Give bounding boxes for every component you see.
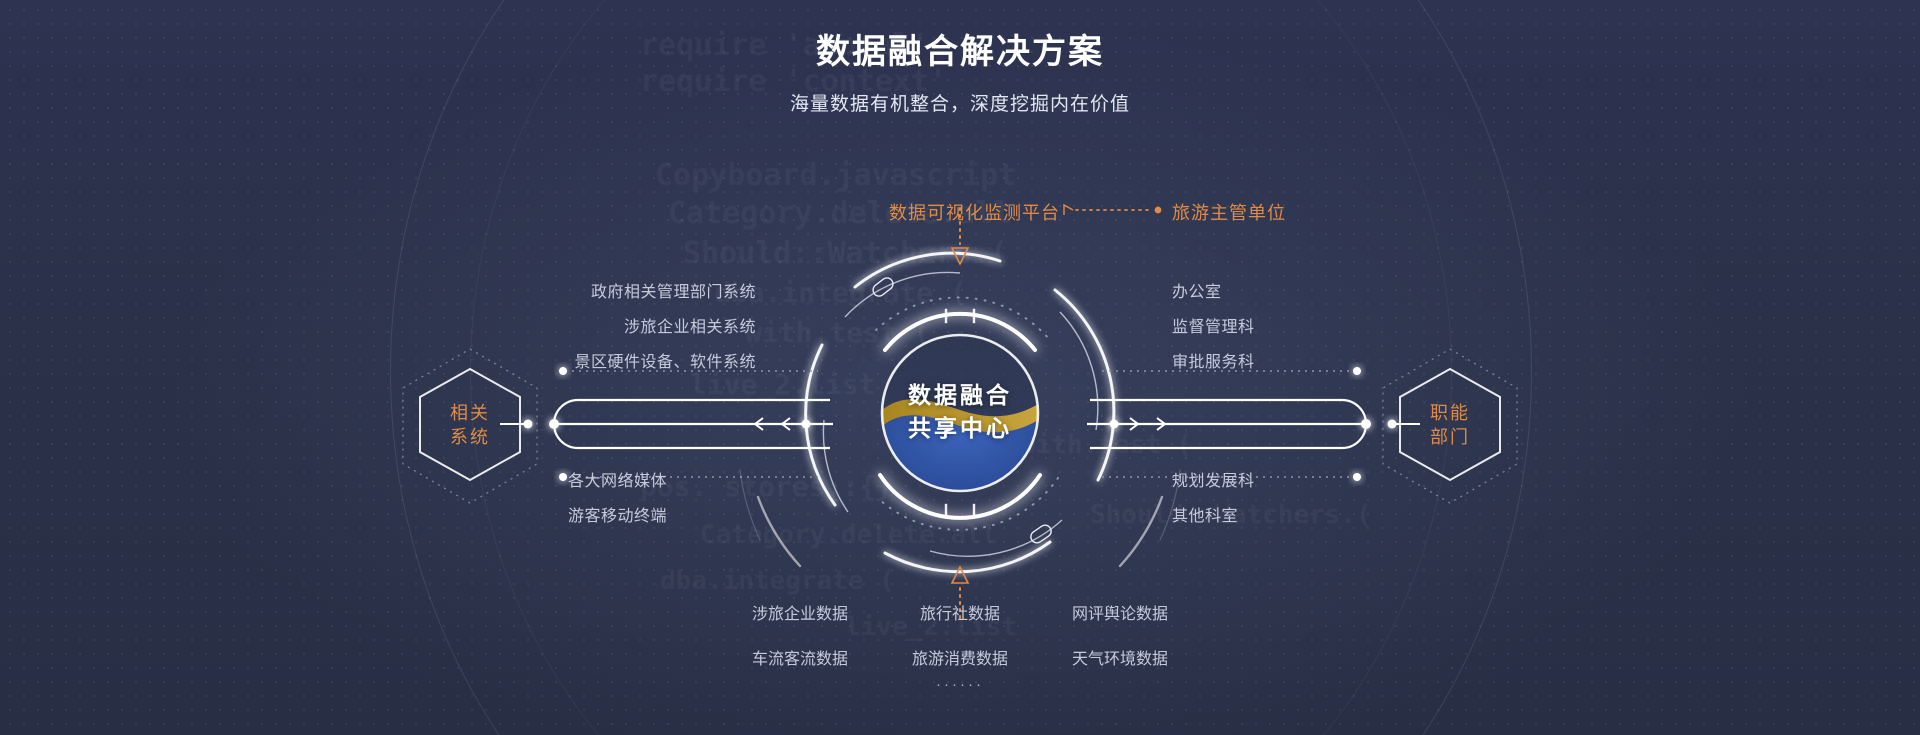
right-badge-line1: 职能 <box>1430 401 1470 425</box>
page-subtitle: 海量数据有机整合，深度挖掘内在价值 <box>0 89 1920 116</box>
left-lower-item-1: 游客移动终端 <box>568 502 667 526</box>
right-lower-item-0: 规划发展科 <box>1172 467 1255 491</box>
bottom-item-3: 车流客流数据 <box>720 645 880 669</box>
bg-code-line: Copyboard.javascript <box>655 158 1016 193</box>
bottom-row-2: 车流客流数据 旅游消费数据 天气环境数据 <box>720 645 1200 669</box>
connector-top-horizontal <box>1064 205 1161 215</box>
bottom-item-2: 网评舆论数据 <box>1040 600 1200 624</box>
left-badge-line1: 相关 <box>450 401 490 425</box>
right-badge[interactable]: 职能 部门 <box>1390 360 1510 490</box>
bottom-item-4: 旅游消费数据 <box>880 645 1040 669</box>
bottom-row-1: 涉旅企业数据 旅行社数据 网评舆论数据 <box>720 600 1200 624</box>
core-label-line2: 共享中心 <box>830 412 1090 445</box>
right-branch-lines <box>1087 367 1420 481</box>
bg-code-line: with.test ( <box>745 316 930 349</box>
right-upper-item-0: 办公室 <box>1172 278 1222 302</box>
decorative-swoosh-arcs <box>740 470 1180 566</box>
page-title: 数据融合解决方案 <box>0 32 1920 73</box>
left-badge-line2: 系统 <box>450 425 490 449</box>
core-label-line1: 数据融合 <box>830 379 1090 412</box>
right-upper-item-1: 监督管理科 <box>1172 313 1255 337</box>
bottom-item-1: 旅行社数据 <box>880 600 1040 624</box>
left-branch-lines <box>500 367 833 481</box>
left-lower-item-0: 各大网络媒体 <box>568 467 667 491</box>
left-upper-item-1: 涉旅企业相关系统 <box>300 313 756 337</box>
bottom-more-indicator: ······ <box>720 676 1200 693</box>
bottom-item-0: 涉旅企业数据 <box>720 600 880 624</box>
right-lower-item-1: 其他科室 <box>1172 502 1238 526</box>
right-badge-line2: 部门 <box>1430 425 1470 449</box>
left-badge[interactable]: 相关 系统 <box>410 360 530 490</box>
top-flow-right-label: 旅游主管单位 <box>1172 199 1286 225</box>
header: 数据融合解决方案 海量数据有机整合，深度挖掘内在价值 <box>0 32 1920 116</box>
core-label: 数据融合 共享中心 <box>830 379 1090 446</box>
bg-code-line: Should::Watchers.( <box>683 236 1008 271</box>
bg-code-line: dba.integrate ( <box>660 566 895 596</box>
bg-code-line: pos. stores::{} <box>640 470 893 503</box>
bg-code-line: Category.delete.all <box>700 520 997 550</box>
right-upper-item-2: 审批服务科 <box>1172 348 1255 372</box>
left-upper-item-0: 政府相关管理部门系统 <box>300 278 756 302</box>
infographic-canvas: require 'appeal' require 'context' Copyb… <box>0 0 1920 735</box>
bottom-item-5: 天气环境数据 <box>1040 645 1200 669</box>
top-flow-left-label: 数据可视化监测平台 <box>640 199 1060 225</box>
